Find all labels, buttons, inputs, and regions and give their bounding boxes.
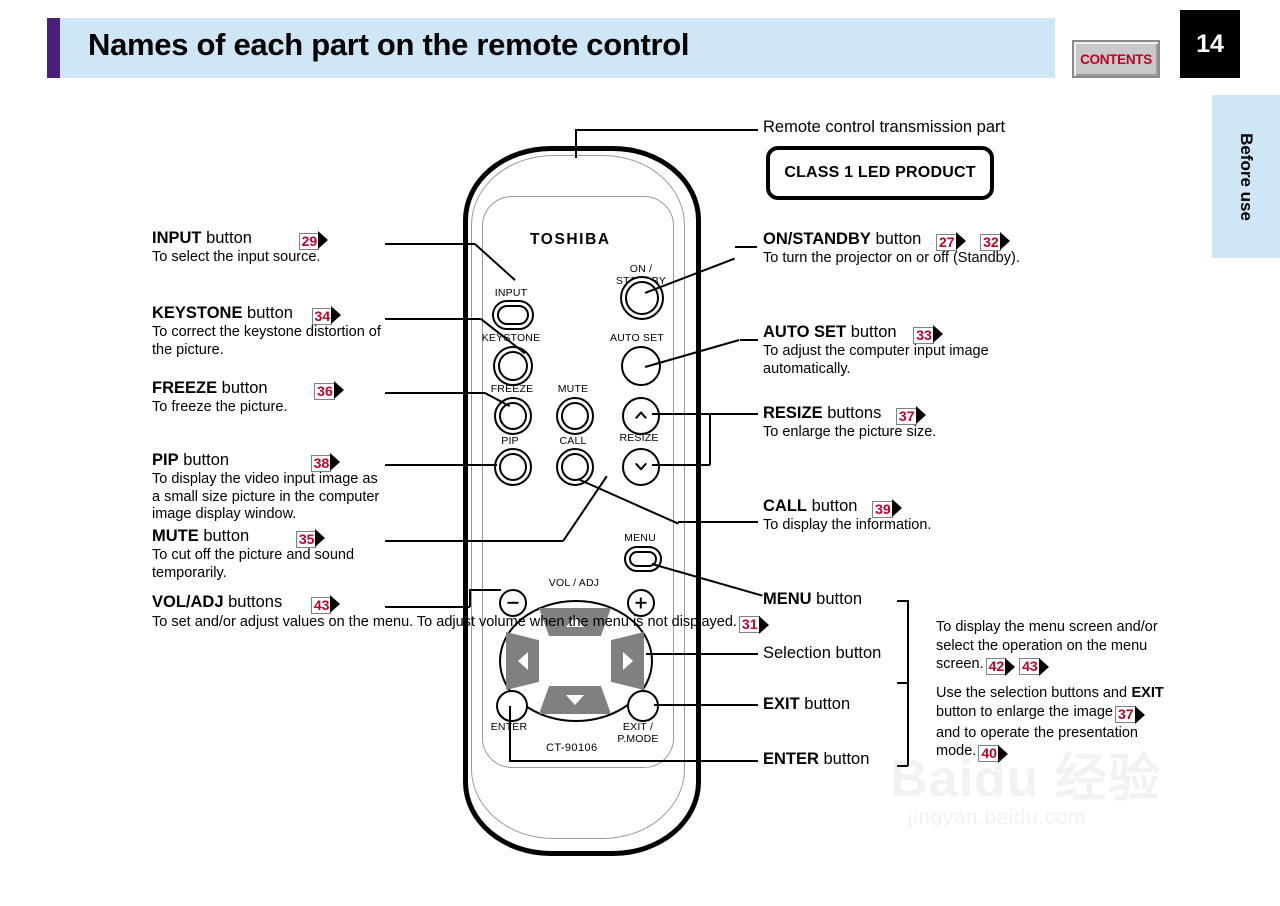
annotation-resize-title: RESIZE buttons 37 <box>763 403 1013 424</box>
badge-chevron-icon <box>956 232 966 250</box>
annotation-voladj: VOL/ADJ buttons 43 To set and/or adjust … <box>152 592 771 634</box>
annotation-menu: MENU button <box>763 589 862 609</box>
chevron-down-icon <box>635 460 648 473</box>
leader-voladj-h2 <box>469 589 501 591</box>
key-label-input: INPUT <box>490 288 532 300</box>
annotation-freeze-desc: To freeze the picture. <box>152 399 382 417</box>
contents-button[interactable]: CONTENTS <box>1072 40 1160 78</box>
chevron-up-icon <box>635 409 648 422</box>
page-ref-badge[interactable]: 34 <box>312 306 342 324</box>
resize-up-button[interactable] <box>622 397 660 435</box>
arrow-right-icon <box>621 651 635 671</box>
led-label-text: CLASS 1 LED PRODUCT <box>784 164 975 182</box>
annotation-input-desc: To select the input source. <box>152 249 382 267</box>
badge-chevron-icon <box>334 381 344 399</box>
page-ref-badge[interactable]: 32 <box>980 232 1010 250</box>
leader-autoset-h <box>740 339 758 341</box>
leader-keystone-h <box>385 318 481 320</box>
annotation-keystone: KEYSTONE button 34 To correct the keysto… <box>152 303 397 359</box>
badge-chevron-icon <box>1039 658 1049 676</box>
toshiba-logo: TOSHIBA <box>530 231 611 249</box>
page-ref-badge[interactable]: 39 <box>872 499 902 517</box>
keystone-button[interactable] <box>493 346 533 386</box>
annotation-mute-desc: To cut off the picture and sound tempora… <box>152 547 377 582</box>
badge-chevron-icon <box>933 325 943 343</box>
watermark-line2: jingyan.baidu.com <box>908 806 1210 830</box>
badge-chevron-icon <box>1005 658 1015 676</box>
page-ref-badge[interactable]: 43 <box>311 595 341 613</box>
leader-resize-bracket <box>709 413 711 465</box>
leader-selection-h <box>646 653 758 655</box>
exit-pmode-button[interactable] <box>627 690 659 722</box>
key-label-pip: PIP <box>494 436 526 448</box>
annotation-mute-title: MUTE button 35 <box>152 526 377 547</box>
leader-pip-h <box>385 464 497 466</box>
annotation-input-title: INPUT button 29 <box>152 228 382 249</box>
annotation-enter-title: ENTER button <box>763 749 869 769</box>
annotation-pip: PIP button 38 To display the video input… <box>152 450 384 524</box>
annotation-call-desc: To display the information. <box>763 517 1013 535</box>
leader-enter-v <box>509 706 511 761</box>
page-ref-badge[interactable]: 29 <box>299 231 329 249</box>
annotation-pip-title: PIP button 38 <box>152 450 384 471</box>
input-button[interactable] <box>492 300 534 330</box>
annotation-voladj-title: VOL/ADJ buttons 43 <box>152 592 771 613</box>
annotation-mute: MUTE button 35 To cut off the picture an… <box>152 526 377 582</box>
page-ref-badge[interactable]: 36 <box>314 381 344 399</box>
page-ref-badge[interactable]: 38 <box>311 453 341 471</box>
badge-chevron-icon <box>318 231 328 249</box>
annotation-exit: EXIT button <box>763 694 850 714</box>
notes-bracket-top <box>897 600 908 602</box>
menu-note-2-d: image <box>1073 704 1113 720</box>
leader-mute-h <box>385 540 563 542</box>
annotation-keystone-title: KEYSTONE button 34 <box>152 303 397 324</box>
key-label-mute: MUTE <box>552 384 594 396</box>
leader-resize-out <box>709 413 758 415</box>
page-title: Names of each part on the remote control <box>88 27 689 63</box>
side-tab-label: Before use <box>1236 133 1256 221</box>
leader-resize-top <box>652 413 710 415</box>
menu-button[interactable] <box>624 546 662 572</box>
arrow-left-icon <box>516 651 530 671</box>
watermark: Baidu 经验 jingyan.baidu.com <box>890 752 1210 848</box>
annotation-selection: Selection button <box>763 643 881 663</box>
annotation-voladj-desc: To set and/or adjust values on the menu.… <box>152 614 737 630</box>
key-label-auto-set: AUTO SET <box>606 333 668 345</box>
badge-chevron-icon <box>759 616 769 634</box>
on-standby-button[interactable] <box>620 276 664 320</box>
freeze-button[interactable] <box>494 397 532 435</box>
badge-chevron-icon <box>315 529 325 547</box>
notes-bracket-mid <box>897 682 908 684</box>
badge-chevron-icon <box>1135 706 1145 724</box>
leader-transmission-vertical <box>575 130 577 158</box>
annotation-resize-desc: To enlarge the picture size. <box>763 424 1013 442</box>
call-button[interactable] <box>556 448 594 486</box>
menu-note-1: To display the menu screen and/or select… <box>936 618 1176 676</box>
page-ref-badge[interactable]: 33 <box>913 325 943 343</box>
leader-transmission-horizontal <box>575 129 758 131</box>
page-ref-badge[interactable]: 42 <box>986 658 1016 676</box>
resize-down-button[interactable] <box>622 448 660 486</box>
arrow-down-icon <box>565 693 585 707</box>
key-label-vol-adj: VOL / ADJ <box>544 578 604 590</box>
page-number: 14 <box>1196 30 1224 59</box>
remote-model-number: CT-90106 <box>546 742 598 754</box>
annotation-pip-desc: To display the video input image as a sm… <box>152 471 384 524</box>
class-1-led-product-label: CLASS 1 LED PRODUCT <box>766 146 994 200</box>
menu-note-2-e: and to operate <box>936 725 1030 741</box>
annotation-freeze: FREEZE button 36 To freeze the picture. <box>152 378 382 417</box>
page-ref-badge[interactable]: 43 <box>1019 658 1049 676</box>
contents-button-label: CONTENTS <box>1080 52 1152 67</box>
dpad-left-button[interactable] <box>506 632 539 690</box>
annotation-enter: ENTER button <box>763 749 869 769</box>
badge-chevron-icon <box>331 306 341 324</box>
annotation-transmission-label: Remote control transmission part <box>763 117 1005 137</box>
leader-onstandby-h <box>735 246 757 248</box>
annotation-auto-set: AUTO SET button 33 To adjust the compute… <box>763 322 1018 378</box>
annotation-exit-title: EXIT button <box>763 694 850 714</box>
watermark-line1: Baidu 经验 <box>890 752 1210 806</box>
auto-set-button[interactable] <box>621 346 661 386</box>
leader-input-h <box>385 243 475 245</box>
annotation-on-standby-desc: To turn the projector on or off (Standby… <box>763 250 1063 268</box>
annotation-keystone-desc: To correct the keystone distortion of th… <box>152 324 397 359</box>
annotation-input: INPUT button 29 To select the input sour… <box>152 228 382 267</box>
annotation-freeze-title: FREEZE button 36 <box>152 378 382 399</box>
annotation-transmission-part: Remote control transmission part <box>763 117 1005 137</box>
pip-button[interactable] <box>494 448 532 486</box>
manual-page: Names of each part on the remote control… <box>0 0 1280 906</box>
leader-resize-bottom <box>652 464 710 466</box>
page-ref-badge[interactable]: 31 <box>739 616 769 634</box>
annotation-auto-set-title: AUTO SET button 33 <box>763 322 1018 343</box>
annotation-call: CALL button 39 To display the informatio… <box>763 496 1013 535</box>
dpad-down-button[interactable] <box>539 686 611 714</box>
annotation-on-standby: ON/STANDBY button 27 32 To turn the proj… <box>763 229 1063 268</box>
mute-button[interactable] <box>556 397 594 435</box>
key-label-menu: MENU <box>621 533 659 545</box>
menu-note-2-c: button to enlarge the <box>936 704 1069 720</box>
key-label-call: CALL <box>553 436 593 448</box>
leader-call-h <box>678 521 758 523</box>
annotation-menu-title: MENU button <box>763 589 862 609</box>
leader-exit-h <box>654 704 758 706</box>
badge-chevron-icon <box>330 595 340 613</box>
badge-chevron-icon <box>1000 232 1010 250</box>
page-number-box: 14 <box>1180 10 1240 78</box>
menu-note-2-b: EXIT <box>1132 685 1164 701</box>
dpad-right-button[interactable] <box>611 632 644 690</box>
badge-chevron-icon <box>330 453 340 471</box>
side-tab-before-use[interactable]: Before use <box>1212 95 1280 258</box>
badge-chevron-icon <box>916 406 926 424</box>
page-ref-badge[interactable]: 35 <box>296 529 326 547</box>
enter-button[interactable] <box>496 690 528 722</box>
leader-freeze-h <box>385 392 485 394</box>
key-label-exit-pmode: EXIT /P.MODE <box>612 722 664 745</box>
annotation-call-title: CALL button 39 <box>763 496 1013 517</box>
annotation-resize: RESIZE buttons 37 To enlarge the picture… <box>763 403 1013 442</box>
page-ref-badge[interactable]: 37 <box>896 406 926 424</box>
leader-enter-h <box>509 760 758 762</box>
annotation-selection-title: Selection button <box>763 643 881 663</box>
badge-chevron-icon <box>892 499 902 517</box>
annotation-auto-set-desc: To adjust the computer input image autom… <box>763 343 1018 378</box>
annotation-on-standby-title: ON/STANDBY button 27 32 <box>763 229 1063 250</box>
page-ref-badge[interactable]: 27 <box>936 232 966 250</box>
menu-note-2-a: Use the selection buttons and <box>936 685 1127 701</box>
page-ref-badge[interactable]: 37 <box>1115 706 1145 724</box>
